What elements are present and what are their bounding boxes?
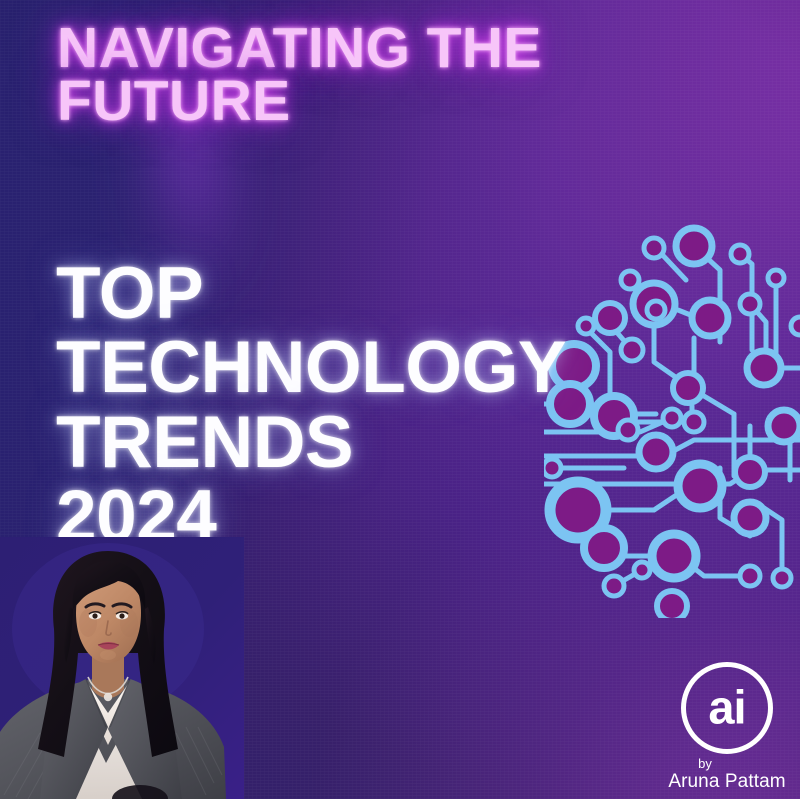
logo-by-label: by (662, 757, 792, 771)
poster-canvas: Navigating the Future Top Technology Tre… (0, 0, 800, 799)
page-title: Top Technology Trends 2024 (56, 257, 616, 555)
presenter-portrait-photo (0, 537, 244, 799)
headline-line-3: Trends (56, 406, 616, 480)
author-name: Aruna Pattam (662, 772, 792, 793)
ai-logo-text: ai (686, 684, 768, 731)
ai-logo-circle-icon[interactable]: ai (681, 662, 773, 754)
headline-line-2: Technology (56, 331, 616, 405)
brand-logo-block[interactable]: ai by Aruna Pattam (662, 662, 792, 793)
headline-line-1: Top (56, 257, 616, 331)
eyebrow-heading: Navigating the Future (57, 22, 602, 128)
